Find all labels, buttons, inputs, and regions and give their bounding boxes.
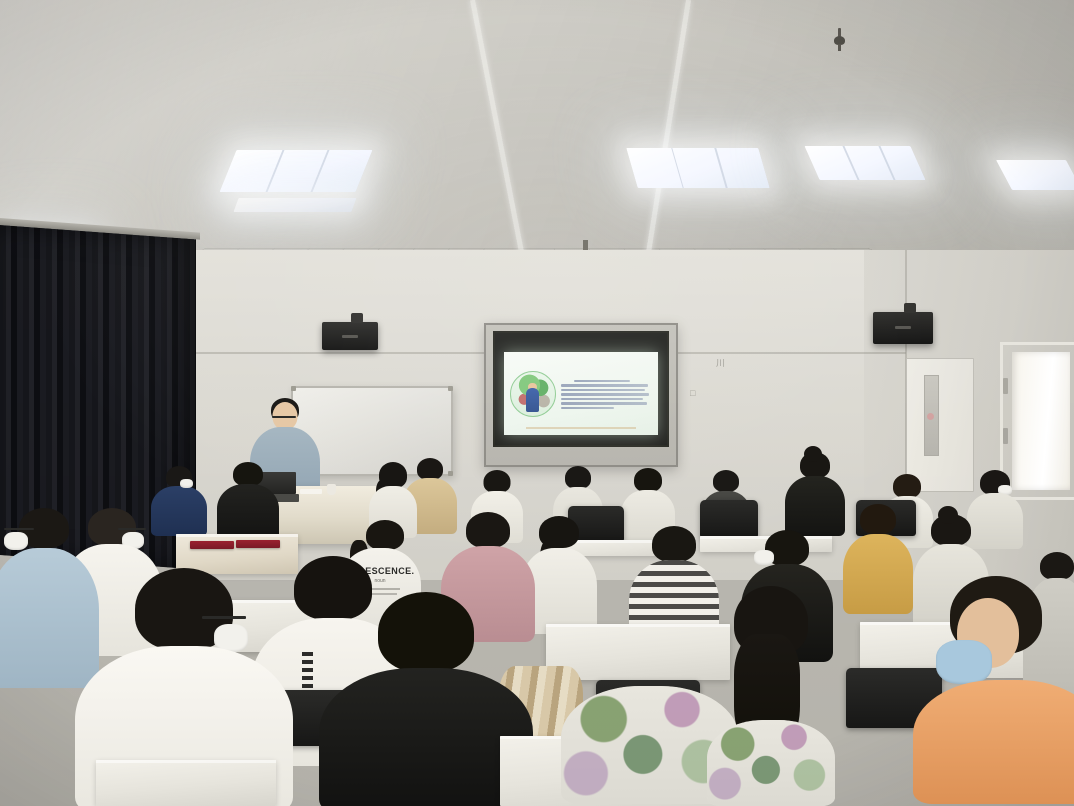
red-folder-1 <box>190 541 234 549</box>
room-door[interactable] <box>906 358 974 492</box>
attendee-back-black-tee <box>216 462 280 538</box>
podium-paper <box>300 489 322 494</box>
attendee-back-strapless <box>784 452 846 536</box>
floral-pattern-right <box>707 720 835 806</box>
face-mask-blue <box>936 640 992 684</box>
attendee-mustard-top <box>842 504 914 614</box>
red-folder-2 <box>236 540 280 548</box>
ceiling-light-left-strip <box>233 198 356 212</box>
projection-screen <box>484 323 678 467</box>
ceiling-light-far-left <box>220 150 373 192</box>
ceiling-light-mid-right <box>804 146 925 180</box>
podium-cup <box>327 484 336 495</box>
slide-footer-rule <box>526 427 637 429</box>
slide-text-block <box>561 378 652 410</box>
slide-illustration <box>510 371 556 417</box>
wall-speaker-right <box>873 312 933 344</box>
desk-bottom-left <box>96 760 276 806</box>
attendee-long-hair-center <box>706 586 836 806</box>
wall-mark-2: □ <box>690 388 696 398</box>
attendee-orange-shirt-blue-mask <box>912 576 1074 806</box>
ceiling-light-far-right <box>626 148 769 188</box>
classroom-photo: 川 □ <box>0 0 1074 806</box>
wall-mark-1: 川 <box>716 356 726 369</box>
slide-content <box>504 352 658 435</box>
projection-screen-border <box>493 331 669 447</box>
wall-speaker-left <box>322 322 378 350</box>
presenter-glasses <box>272 416 296 418</box>
sprinkler-head-right <box>833 28 845 52</box>
